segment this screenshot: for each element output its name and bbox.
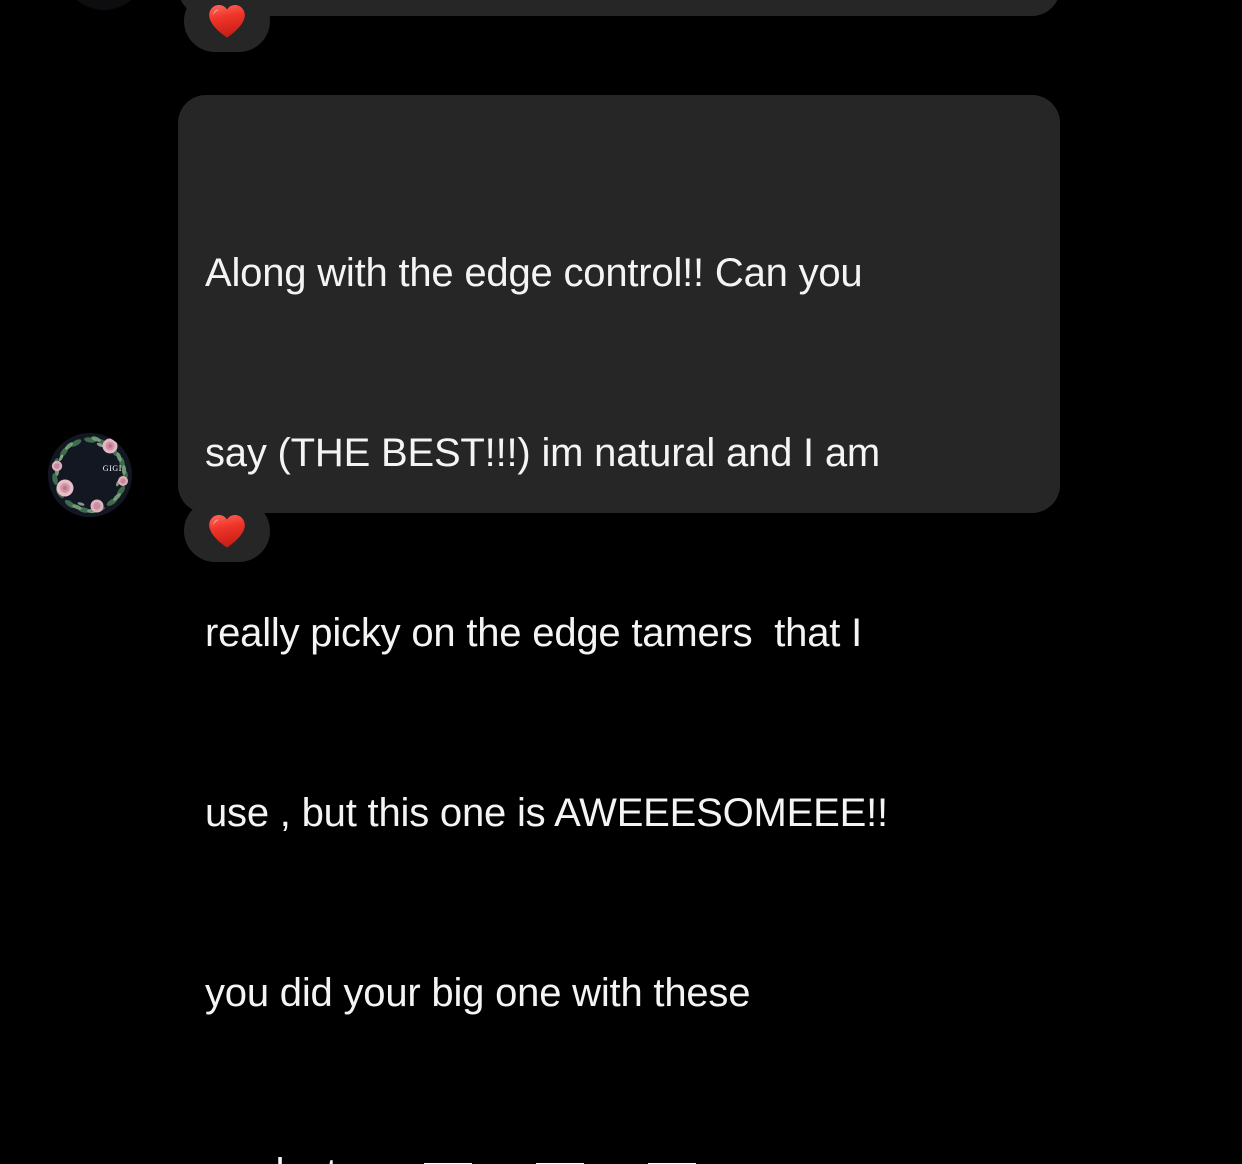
message-line: Along with the edge control!! Can you bbox=[205, 243, 1034, 303]
avatar-previous-message[interactable] bbox=[62, 0, 146, 10]
message-bubble-previous[interactable] bbox=[178, 0, 1060, 16]
message-line: really picky on the edge tamers that I bbox=[205, 603, 1034, 663]
heart-reaction[interactable] bbox=[184, 500, 270, 562]
message-line-with-emoji: products ? ? ? bbox=[205, 1143, 1034, 1164]
message-line: you did your big one with these bbox=[205, 963, 1034, 1023]
message-bubble[interactable]: Along with the edge control!! Can you sa… bbox=[178, 95, 1060, 513]
skin-tone-swatch-2 bbox=[536, 1163, 584, 1164]
avatar[interactable]: GIGI bbox=[48, 433, 132, 517]
skin-tone-swatch-3 bbox=[648, 1163, 696, 1164]
message-line: use , but this one is AWEEESOMEEE!! bbox=[205, 783, 1034, 843]
heart-icon bbox=[208, 4, 246, 38]
emoji-placeholder-run: ? ? ? bbox=[371, 1163, 696, 1164]
heart-icon bbox=[208, 514, 246, 548]
message-line-text: products bbox=[205, 1151, 357, 1164]
message-line: say (THE BEST!!!) im natural and I am bbox=[205, 423, 1034, 483]
message-text: Along with the edge control!! Can you sa… bbox=[205, 123, 1034, 1164]
message-thread[interactable]: GIGI Along with the edge control!! Can y… bbox=[0, 0, 1242, 582]
heart-reaction-previous[interactable] bbox=[184, 0, 270, 52]
skin-tone-swatch-1 bbox=[424, 1163, 472, 1164]
